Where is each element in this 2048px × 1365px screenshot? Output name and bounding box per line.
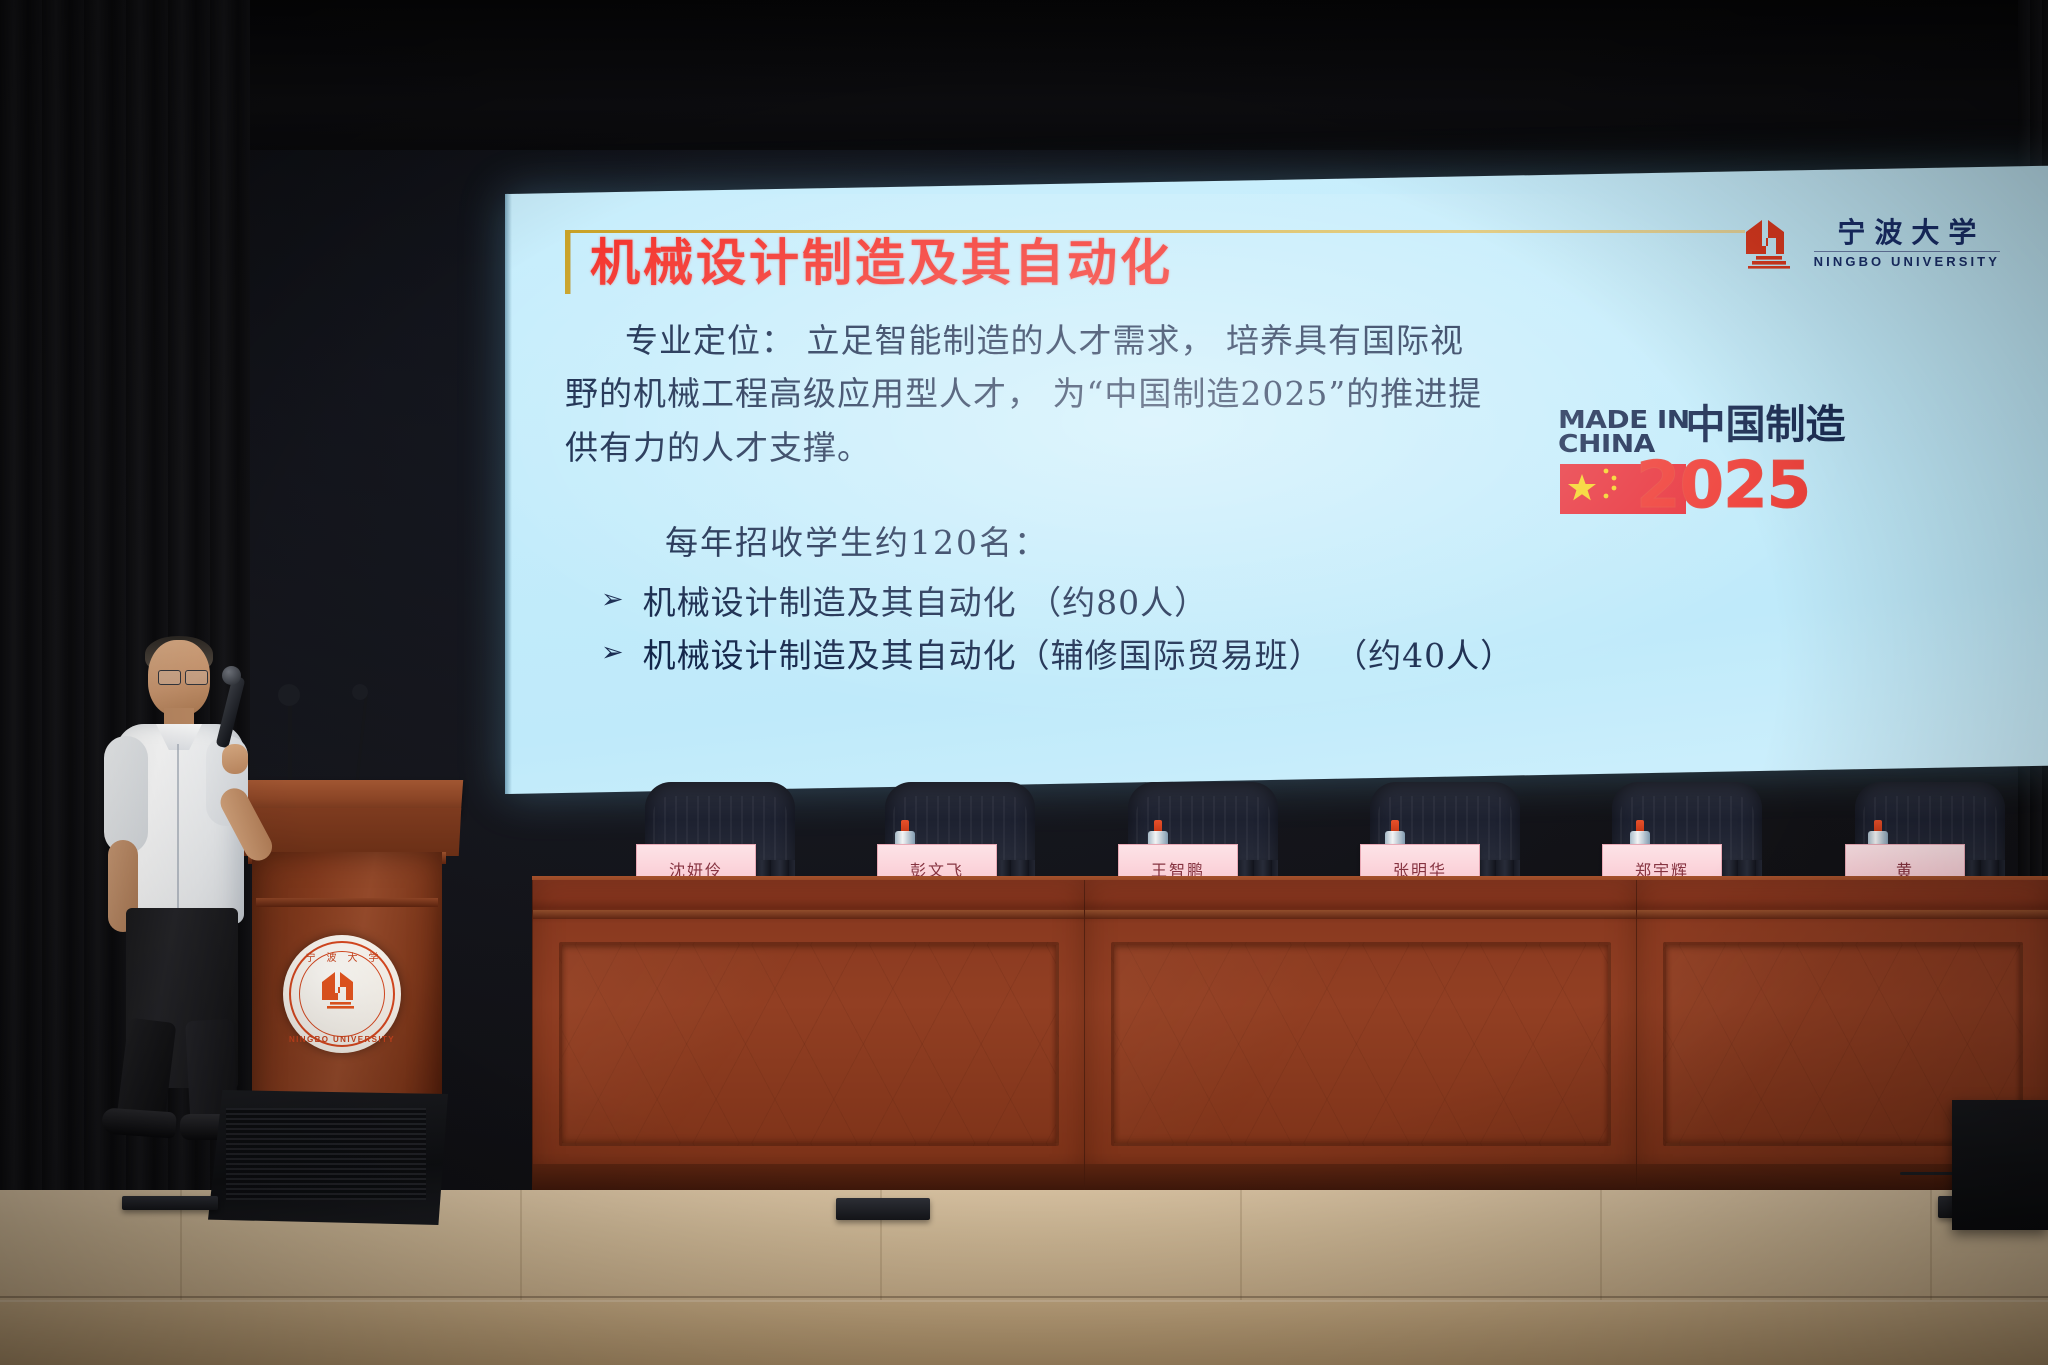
- handheld-microphone-head-icon: [222, 666, 241, 685]
- slide-title-block: 机械设计制造及其自动化: [565, 232, 1173, 294]
- bullet-arrow-icon: ➢: [601, 576, 625, 625]
- bullet-item: ➢ 机械设计制造及其自动化 （约80人）: [601, 576, 1514, 629]
- enrollment-bullet-list: ➢ 机械设计制造及其自动化 （约80人） ➢ 机械设计制造及其自动化（辅修国际贸…: [601, 576, 1514, 683]
- nbu-english-name: NINGBO UNIVERSITY: [1814, 255, 2000, 268]
- made-in-china-2025-badge: MADE IN CHINA 中国制造 2025: [1558, 408, 1858, 518]
- monitor-grill: [226, 1108, 426, 1200]
- podium-university-seal: 宁波大学 NINGBO UNIVERSITY: [283, 935, 401, 1053]
- presenter-left-sleeve: [104, 736, 148, 854]
- projection-screen: 机械设计制造及其自动化 宁波大学 NINGBO UNIVERSITY: [505, 166, 2048, 794]
- nbu-divider: [1814, 251, 2000, 252]
- screen-left-shadow: [505, 194, 512, 794]
- paragraph-line-1: 专业定位： 立足智能制造的人才需求， 培养具有国际视: [625, 321, 1464, 360]
- stage-photograph: 机械设计制造及其自动化 宁波大学 NINGBO UNIVERSITY: [0, 0, 2048, 1365]
- eyeglasses-icon: [158, 670, 208, 683]
- bullet-text: 机械设计制造及其自动化 （约80人）: [643, 576, 1208, 629]
- bullet-item: ➢ 机械设计制造及其自动化（辅修国际贸易班） （约40人）: [601, 629, 1514, 682]
- mic-chinese-text: 中国制造: [1685, 405, 1845, 445]
- floor-socket-box: [836, 1198, 930, 1220]
- title-left-rule: [565, 232, 570, 294]
- ningbo-university-logo: 宁波大学 NINGBO UNIVERSITY: [1742, 216, 2000, 270]
- mic-year-text: 2025: [1636, 454, 1810, 518]
- floor-plate: [122, 1196, 218, 1210]
- bullet-text: 机械设计制造及其自动化（辅修国际贸易班） （约40人）: [643, 629, 1514, 682]
- seal-english-text: NINGBO UNIVERSITY: [283, 1035, 401, 1044]
- stage-edge-seam: [0, 1296, 2048, 1298]
- nbu-gate-mark-icon: [1742, 216, 1800, 270]
- slide-title: 机械设计制造及其自动化: [590, 238, 1173, 288]
- presenter: [96, 640, 296, 1140]
- nbu-chinese-name: 宁波大学: [1828, 219, 1985, 247]
- presenter-shirt-placket: [177, 744, 179, 920]
- seal-chinese-text: 宁波大学: [283, 949, 401, 964]
- presenter-hand: [222, 744, 248, 774]
- enrollment-heading: 每年招收学生约120名：: [665, 516, 1049, 564]
- handheld-microphone-body: [215, 675, 245, 748]
- top-curtain: [0, 0, 2048, 150]
- table-section: [532, 880, 1085, 1190]
- presenter-left-shoe: [101, 1107, 177, 1138]
- bullet-arrow-icon: ➢: [601, 629, 625, 678]
- stage-monitor-speaker: [208, 1090, 448, 1225]
- right-stage-speaker: [1952, 1100, 2048, 1230]
- table-section: [1084, 880, 1637, 1190]
- stage-front-face: [0, 1300, 2048, 1365]
- seal-gate-mark-icon: [319, 968, 365, 1012]
- podium-microphone-head-icon: [352, 684, 368, 700]
